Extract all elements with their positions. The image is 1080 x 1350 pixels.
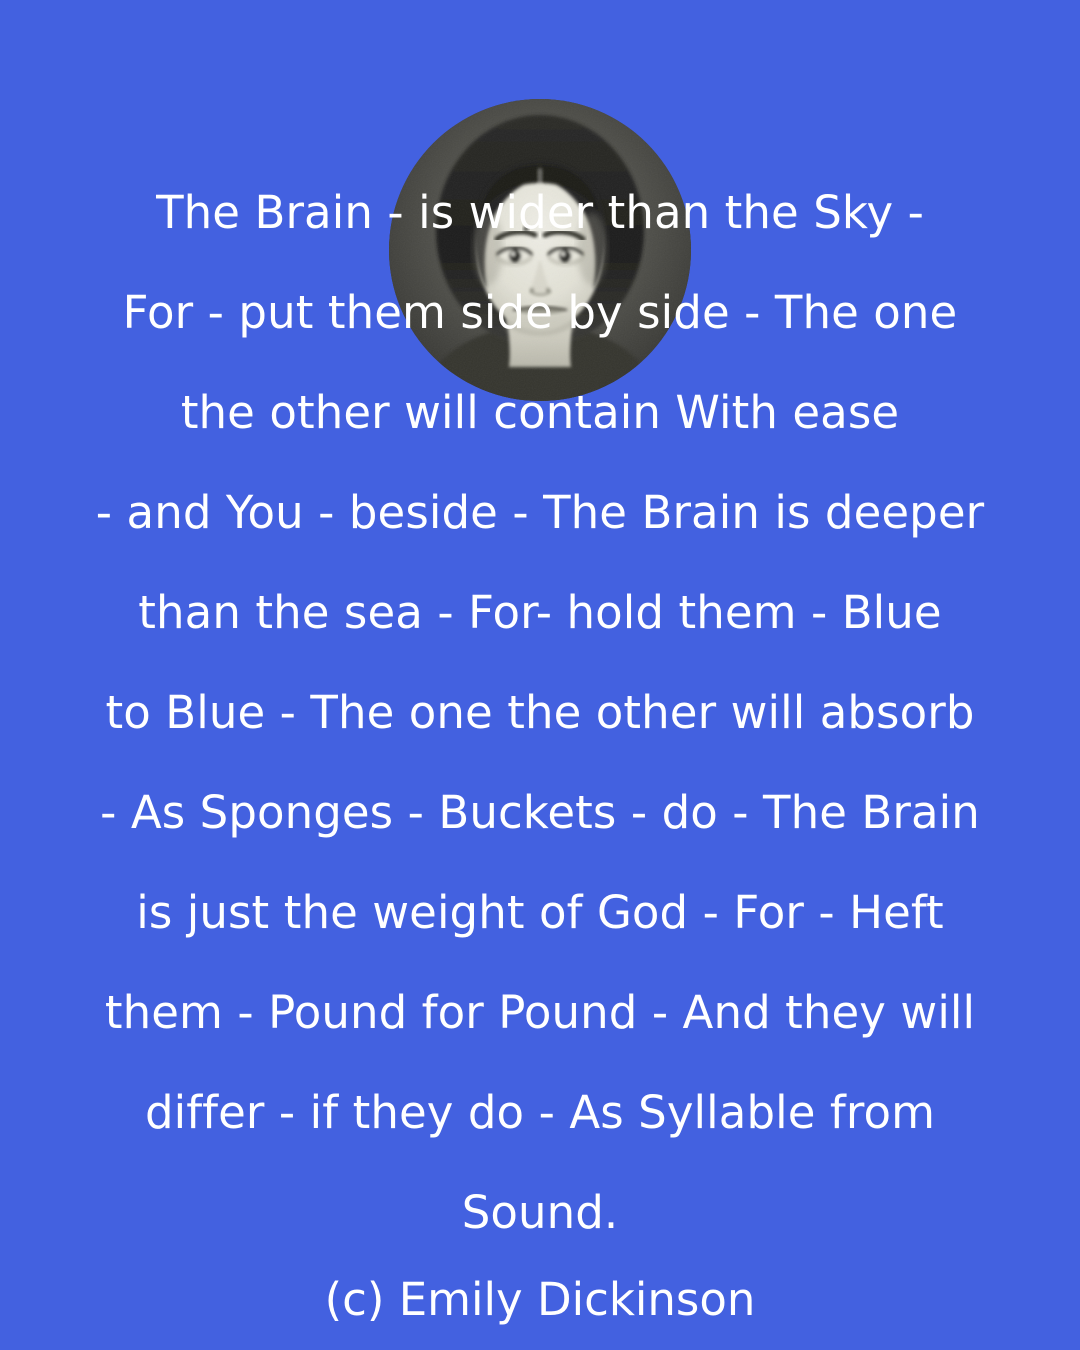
- quote-line: - and You - beside - The Brain is deeper: [0, 463, 1080, 563]
- quote-line: is just the weight of God - For - Heft: [0, 863, 1080, 963]
- quote-line: For - put them side by side - The one: [0, 263, 1080, 363]
- attribution-text: (c) Emily Dickinson: [0, 1272, 1080, 1328]
- quote-line: The Brain - is wider than the Sky -: [0, 163, 1080, 263]
- quote-line: - As Sponges - Buckets - do - The Brain: [0, 763, 1080, 863]
- quote-line: than the sea - For- hold them - Blue: [0, 563, 1080, 663]
- quote-line: Sound.: [0, 1163, 1080, 1263]
- quote-line: to Blue - The one the other will absorb: [0, 663, 1080, 763]
- quote-text: The Brain - is wider than the Sky - For …: [0, 0, 1080, 1263]
- quote-line: them - Pound for Pound - And they will: [0, 963, 1080, 1063]
- quote-graphic-canvas: The Brain - is wider than the Sky - For …: [0, 0, 1080, 1350]
- quote-line: differ - if they do - As Syllable from: [0, 1063, 1080, 1163]
- quote-line: the other will contain With ease: [0, 363, 1080, 463]
